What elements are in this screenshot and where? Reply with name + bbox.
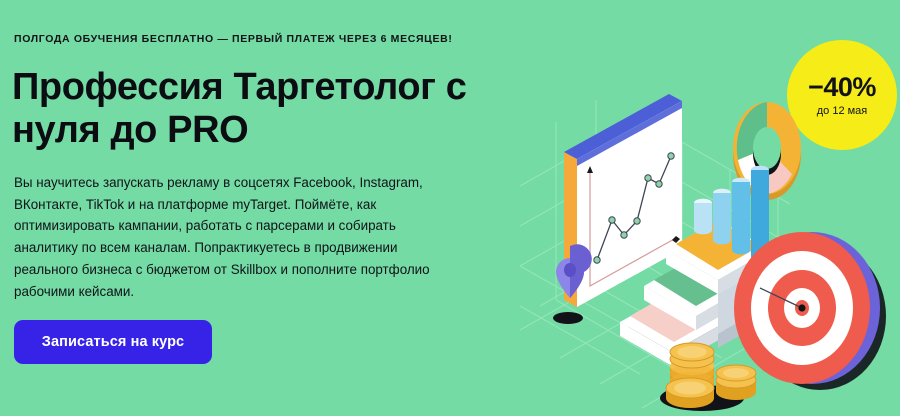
page-title: Профессия Таргетолог с нуля до PRO — [12, 66, 532, 152]
dart-target-icon — [734, 232, 886, 390]
promo-eyebrow: ПОЛГОДА ОБУЧЕНИЯ БЕСПЛАТНО — ПЕРВЫЙ ПЛАТ… — [14, 33, 453, 45]
coin-stacks-icon — [660, 343, 756, 411]
hero-illustration — [520, 70, 900, 416]
hero-description: Вы научитесь запускать рекламу в соцсетя… — [14, 172, 444, 302]
course-promo-banner: ПОЛГОДА ОБУЧЕНИЯ БЕСПЛАТНО — ПЕРВЫЙ ПЛАТ… — [0, 0, 900, 416]
enroll-button[interactable]: Записаться на курс — [14, 320, 212, 364]
